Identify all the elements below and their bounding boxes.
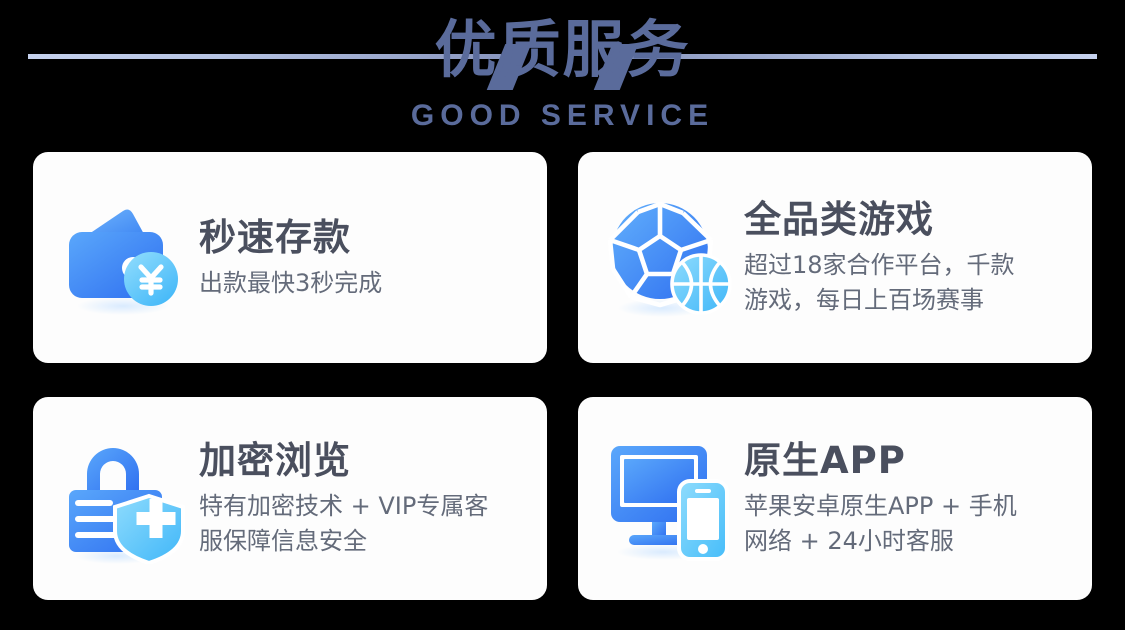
feature-card-deposit[interactable]: 秒速存款 出款最快3秒完成 (33, 152, 547, 363)
card-title: 全品类游戏 (744, 197, 1078, 243)
soccer-basketball-icon (600, 188, 740, 328)
feature-card-encryption[interactable]: 加密浏览 特有加密技术 + VIP专属客 服保障信息安全 (33, 397, 547, 600)
card-description: 特有加密技术 + VIP专属客 服保障信息安全 (199, 489, 533, 559)
card-desc-line: 网络 + 24小时客服 (744, 524, 1078, 559)
card-desc-line: 苹果安卓原生APP + 手机 (744, 489, 1078, 524)
feature-card-grid: 秒速存款 出款最快3秒完成 (33, 152, 1092, 600)
page-subtitle: GOOD SERVICE (0, 99, 1125, 133)
wallet-yuan-icon (55, 188, 195, 328)
feature-card-native-app[interactable]: 原生APP 苹果安卓原生APP + 手机 网络 + 24小时客服 (578, 397, 1092, 600)
card-text-block: 加密浏览 特有加密技术 + VIP专属客 服保障信息安全 (195, 438, 533, 559)
card-description: 苹果安卓原生APP + 手机 网络 + 24小时客服 (744, 489, 1078, 559)
good-service-banner: 优质服务 GOOD SERVICE (0, 0, 1125, 630)
card-text-block: 全品类游戏 超过18家合作平台，千款 游戏，每日上百场赛事 (740, 197, 1078, 318)
page-title: 优质服务 (0, 8, 1125, 92)
card-description: 超过18家合作平台，千款 游戏，每日上百场赛事 (744, 248, 1078, 318)
card-desc-line: 服保障信息安全 (199, 524, 533, 559)
card-title: 原生APP (744, 438, 1078, 484)
card-title: 秒速存款 (199, 215, 533, 261)
card-desc-line: 超过18家合作平台，千款 (744, 248, 1078, 283)
card-title: 加密浏览 (199, 438, 533, 484)
card-desc-line: 出款最快3秒完成 (199, 266, 533, 301)
card-text-block: 原生APP 苹果安卓原生APP + 手机 网络 + 24小时客服 (740, 438, 1078, 559)
banner-header: 优质服务 GOOD SERVICE (0, 0, 1125, 150)
card-description: 出款最快3秒完成 (199, 266, 533, 301)
monitor-phone-icon (600, 429, 740, 569)
card-text-block: 秒速存款 出款最快3秒完成 (195, 215, 533, 301)
card-desc-line: 游戏，每日上百场赛事 (744, 283, 1078, 318)
lock-shield-icon (55, 429, 195, 569)
card-desc-line: 特有加密技术 + VIP专属客 (199, 489, 533, 524)
feature-card-games[interactable]: 全品类游戏 超过18家合作平台，千款 游戏，每日上百场赛事 (578, 152, 1092, 363)
